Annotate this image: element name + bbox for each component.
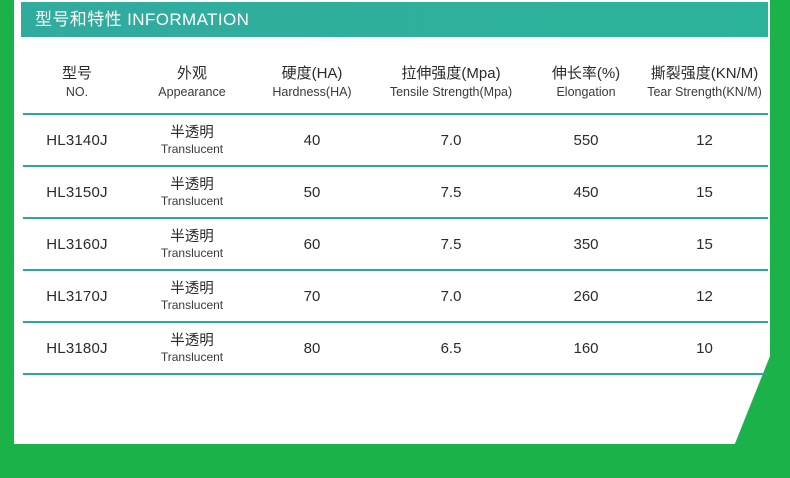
cell-elongation: 260 <box>531 270 641 322</box>
cell-tensile: 7.0 <box>371 114 531 166</box>
cell-elongation: 450 <box>531 166 641 218</box>
cell-elongation: 160 <box>531 322 641 374</box>
column-header-hardness: 硬度(HA) Hardness(HA) <box>253 50 371 114</box>
product-spec-page: 型号和特性 INFORMATION 型号 NO. 外观 Appearance <box>0 0 790 478</box>
column-header-appearance-en: Appearance <box>133 84 251 101</box>
column-header-no-cn: 型号 <box>25 64 129 84</box>
spec-table-body: HL3140J 半透明 Translucent 40 7.0 550 12 HL… <box>23 114 768 374</box>
spec-table: 型号 NO. 外观 Appearance 硬度(HA) Hardness(HA)… <box>23 50 768 375</box>
cell-hardness: 50 <box>253 166 371 218</box>
cell-appearance: 半透明 Translucent <box>131 270 253 322</box>
cell-tear: 15 <box>641 218 768 270</box>
column-header-hardness-en: Hardness(HA) <box>255 84 369 101</box>
column-header-tear-cn: 撕裂强度(KN/M) <box>643 64 766 84</box>
cell-no: HL3160J <box>23 218 131 270</box>
column-header-no: 型号 NO. <box>23 50 131 114</box>
column-header-no-en: NO. <box>25 84 129 101</box>
cell-appearance-en: Translucent <box>133 246 251 261</box>
column-header-tensile: 拉伸强度(Mpa) Tensile Strength(Mpa) <box>371 50 531 114</box>
cell-no: HL3170J <box>23 270 131 322</box>
cell-hardness: 40 <box>253 114 371 166</box>
cell-tensile: 7.0 <box>371 270 531 322</box>
table-row: HL3150J 半透明 Translucent 50 7.5 450 15 <box>23 166 768 218</box>
cell-tear: 15 <box>641 166 768 218</box>
table-row: HL3170J 半透明 Translucent 70 7.0 260 12 <box>23 270 768 322</box>
cell-tear: 12 <box>641 270 768 322</box>
cell-no: HL3150J <box>23 166 131 218</box>
cell-tensile: 7.5 <box>371 166 531 218</box>
cell-appearance-cn: 半透明 <box>133 124 251 142</box>
cell-appearance-cn: 半透明 <box>133 332 251 350</box>
cell-tensile: 7.5 <box>371 218 531 270</box>
spec-table-container: 型号 NO. 外观 Appearance 硬度(HA) Hardness(HA)… <box>23 50 768 375</box>
cell-no: HL3140J <box>23 114 131 166</box>
cell-appearance: 半透明 Translucent <box>131 114 253 166</box>
column-header-tensile-cn: 拉伸强度(Mpa) <box>373 64 529 84</box>
column-header-tear-en: Tear Strength(KN/M) <box>643 84 766 101</box>
decorative-bottom-bar <box>0 444 790 478</box>
cell-appearance: 半透明 Translucent <box>131 218 253 270</box>
cell-tensile: 6.5 <box>371 322 531 374</box>
cell-appearance-en: Translucent <box>133 298 251 313</box>
column-header-elongation-cn: 伸长率(%) <box>533 64 639 84</box>
cell-hardness: 70 <box>253 270 371 322</box>
page-title: 型号和特性 INFORMATION <box>35 2 249 37</box>
cell-appearance-cn: 半透明 <box>133 228 251 246</box>
cell-appearance: 半透明 Translucent <box>131 166 253 218</box>
cell-hardness: 60 <box>253 218 371 270</box>
column-header-tear: 撕裂强度(KN/M) Tear Strength(KN/M) <box>641 50 768 114</box>
cell-no: HL3180J <box>23 322 131 374</box>
table-row: HL3140J 半透明 Translucent 40 7.0 550 12 <box>23 114 768 166</box>
cell-tear: 12 <box>641 114 768 166</box>
cell-appearance-en: Translucent <box>133 350 251 365</box>
column-header-elongation: 伸长率(%) Elongation <box>531 50 641 114</box>
cell-hardness: 80 <box>253 322 371 374</box>
cell-tear: 10 <box>641 322 768 374</box>
column-header-hardness-cn: 硬度(HA) <box>255 64 369 84</box>
column-header-appearance-cn: 外观 <box>133 64 251 84</box>
table-header-row: 型号 NO. 外观 Appearance 硬度(HA) Hardness(HA)… <box>23 50 768 114</box>
cell-appearance-cn: 半透明 <box>133 280 251 298</box>
cell-elongation: 550 <box>531 114 641 166</box>
cell-appearance: 半透明 Translucent <box>131 322 253 374</box>
cell-appearance-cn: 半透明 <box>133 176 251 194</box>
column-header-elongation-en: Elongation <box>533 84 639 101</box>
cell-appearance-en: Translucent <box>133 142 251 157</box>
spec-table-head: 型号 NO. 外观 Appearance 硬度(HA) Hardness(HA)… <box>23 50 768 114</box>
column-header-tensile-en: Tensile Strength(Mpa) <box>373 84 529 101</box>
column-header-appearance: 外观 Appearance <box>131 50 253 114</box>
cell-appearance-en: Translucent <box>133 194 251 209</box>
table-row: HL3180J 半透明 Translucent 80 6.5 160 10 <box>23 322 768 374</box>
section-title-bar: 型号和特性 INFORMATION <box>21 2 768 37</box>
cell-elongation: 350 <box>531 218 641 270</box>
decorative-left-bar <box>0 0 14 478</box>
table-row: HL3160J 半透明 Translucent 60 7.5 350 15 <box>23 218 768 270</box>
